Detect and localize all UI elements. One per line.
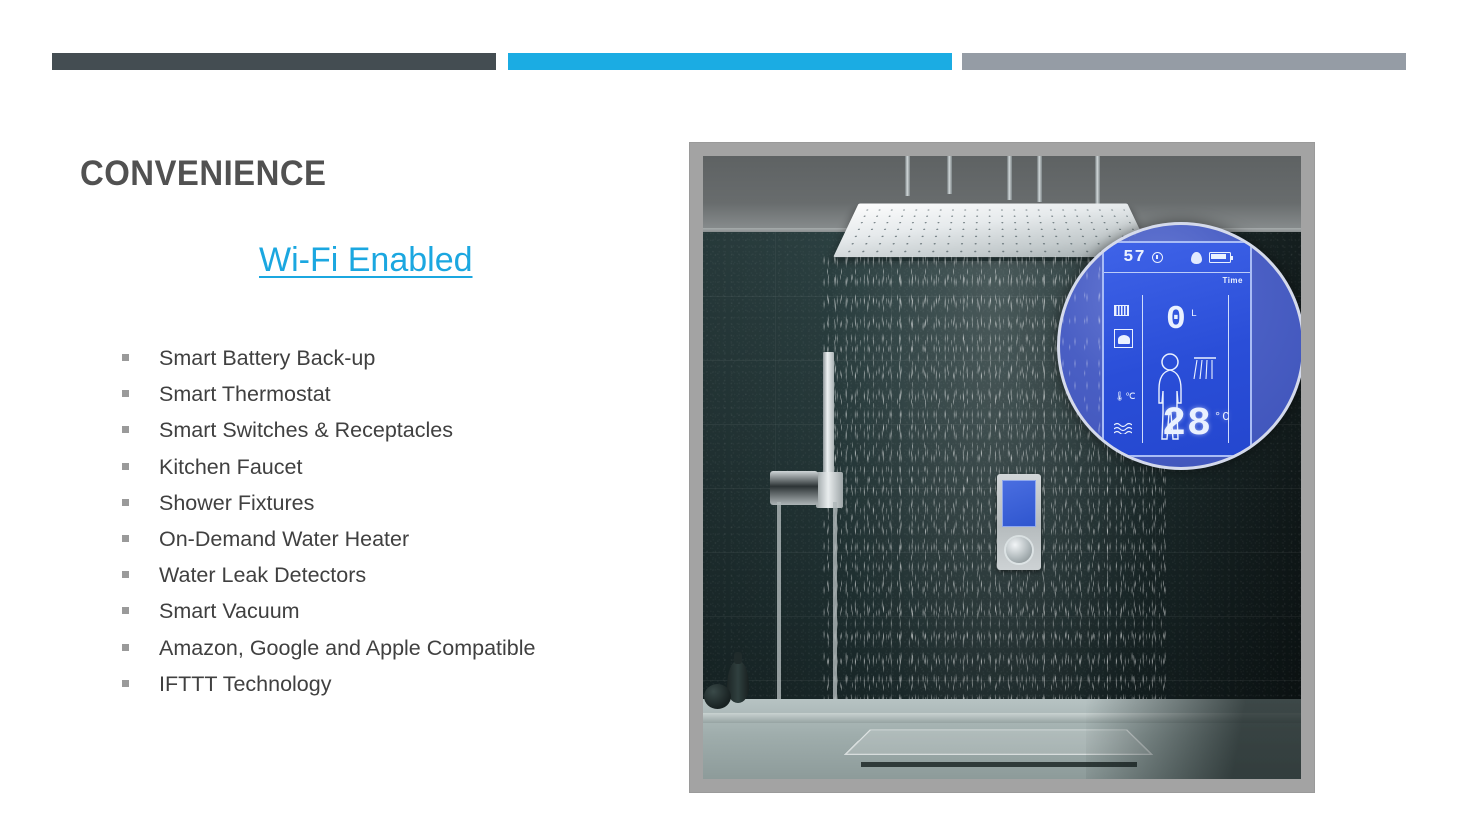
lcd-temperature-unit: °C: [1214, 410, 1230, 424]
lcd-temperature-value: 28: [1162, 402, 1212, 447]
decor-bar-blue: [508, 53, 952, 70]
lcd-status-bar: 57: [1104, 243, 1250, 273]
shower-photo: 57 Time 🌡℃: [703, 156, 1301, 779]
grid-icon: [1114, 305, 1129, 316]
decor-vase-round: [704, 684, 731, 709]
shower-head-icon: [1192, 355, 1220, 381]
lcd-flow-value: 0: [1166, 301, 1188, 338]
shower-photo-frame: 57 Time 🌡℃: [690, 143, 1314, 792]
list-item: Water Leak Detectors: [122, 565, 682, 601]
spray-mode-icon: [1114, 329, 1133, 348]
list-item: Smart Vacuum: [122, 601, 682, 637]
water-drop-icon: [1191, 252, 1202, 264]
shower-pipe: [1095, 156, 1100, 206]
handheld-shower-wand: [823, 352, 834, 480]
list-item-label: Smart Thermostat: [159, 384, 331, 406]
list-item-label: On-Demand Water Heater: [159, 529, 409, 551]
bullet-square-icon: [122, 571, 129, 578]
lcd-flow-unit: L: [1191, 309, 1199, 320]
list-item: Kitchen Faucet: [122, 457, 682, 493]
list-item-label: Kitchen Faucet: [159, 457, 302, 479]
thermometer-icon: 🌡℃: [1114, 391, 1136, 402]
list-item: IFTTT Technology: [122, 674, 682, 710]
clock-icon: [1152, 252, 1163, 263]
shower-pipe: [947, 156, 952, 194]
page-title: CONVENIENCE: [80, 154, 326, 194]
slide: CONVENIENCE Wi-Fi Enabled Smart Battery …: [0, 0, 1458, 820]
shower-pipe: [905, 156, 910, 196]
bullet-square-icon: [122, 499, 129, 506]
shower-pipe: [1007, 156, 1012, 200]
bullet-square-icon: [122, 535, 129, 542]
lcd-magnifier-inset: 57 Time 🌡℃: [1057, 222, 1301, 470]
panel-dial-knob[interactable]: [1006, 537, 1032, 563]
wall-control-panel[interactable]: [997, 474, 1041, 570]
decor-bar-dark: [52, 53, 496, 70]
list-item-label: Water Leak Detectors: [159, 565, 366, 587]
top-decor-bars: [0, 0, 1458, 110]
list-item: Smart Thermostat: [122, 384, 682, 420]
wave-icon: [1114, 421, 1132, 433]
lcd-flow-readout: 0L: [1166, 301, 1199, 338]
smart-control-lcd: 57 Time 🌡℃: [1102, 241, 1252, 457]
list-item: Smart Switches & Receptacles: [122, 420, 682, 456]
lcd-status-icons: [1191, 252, 1231, 264]
wave-icon-svg: [1114, 422, 1132, 434]
list-item-label: Amazon, Google and Apple Compatible: [159, 638, 536, 660]
list-item: Smart Battery Back-up: [122, 348, 682, 384]
lcd-divider-left: [1142, 295, 1143, 443]
bullet-square-icon: [122, 607, 129, 614]
decor-bar-gray: [962, 53, 1406, 70]
bullet-square-icon: [122, 463, 129, 470]
battery-icon: [1209, 252, 1231, 263]
lcd-time-label: Time: [1222, 276, 1243, 285]
subtitle-link[interactable]: Wi-Fi Enabled: [259, 241, 473, 280]
list-item: Amazon, Google and Apple Compatible: [122, 638, 682, 674]
shower-pipe: [1037, 156, 1042, 202]
bullet-square-icon: [122, 680, 129, 687]
list-item: Shower Fixtures: [122, 493, 682, 529]
list-item: On-Demand Water Heater: [122, 529, 682, 565]
list-item-label: Smart Switches & Receptacles: [159, 420, 453, 442]
floor-shadow: [1086, 699, 1301, 779]
bullet-square-icon: [122, 426, 129, 433]
bullet-square-icon: [122, 644, 129, 651]
bullet-square-icon: [122, 354, 129, 361]
wand-wall-mount: [770, 471, 818, 505]
lcd-status-value: 57: [1123, 248, 1145, 267]
list-item-label: Smart Vacuum: [159, 601, 300, 623]
list-item-label: Shower Fixtures: [159, 493, 314, 515]
list-item-label: IFTTT Technology: [159, 674, 331, 696]
bullet-square-icon: [122, 390, 129, 397]
lcd-temperature-readout: 28°C: [1162, 402, 1230, 447]
panel-lcd-screen: [1002, 480, 1036, 527]
list-item-label: Smart Battery Back-up: [159, 348, 375, 370]
feature-list: Smart Battery Back-up Smart Thermostat S…: [122, 348, 682, 710]
